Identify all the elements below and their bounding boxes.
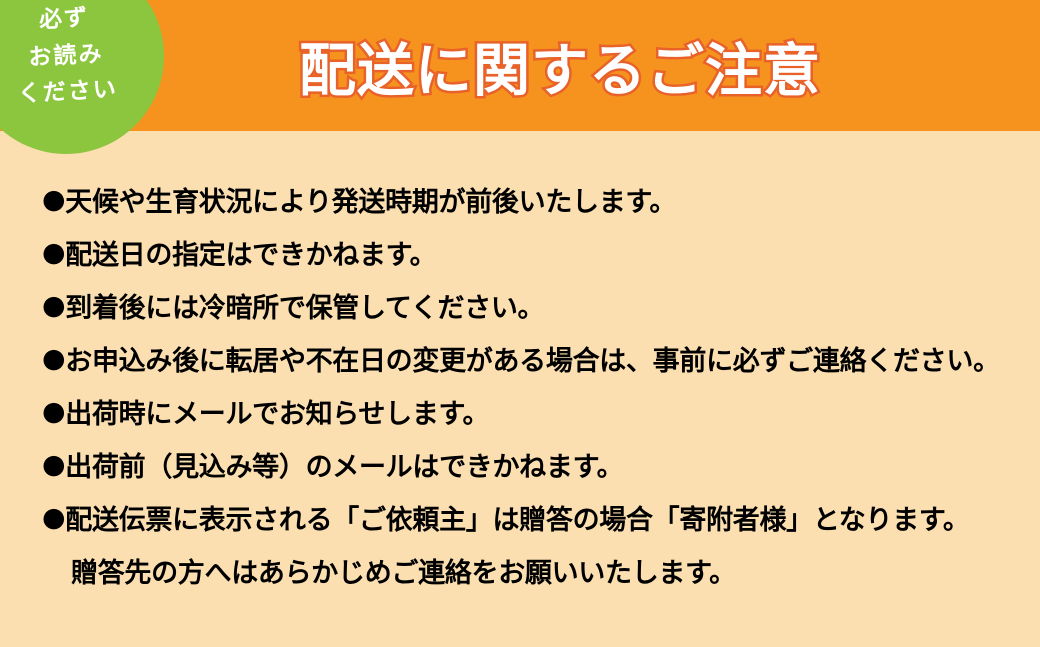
bullet-icon: ● <box>42 398 65 425</box>
badge-line-1: 必ず <box>38 0 90 39</box>
notice-item-text: 出荷時にメールでお知らせします。 <box>65 392 489 431</box>
notice-item-text: 到着後には冷暗所で保管してください。 <box>65 286 544 325</box>
bullet-icon: ● <box>42 345 65 372</box>
bullet-icon: ● <box>42 504 65 531</box>
notice-item: ● 到着後には冷暗所で保管してください。 <box>42 279 1022 332</box>
shipping-notice-card: 配送に関するご注意 必ず お読み ください ● 天候や生育状況により発送時期が前… <box>0 0 1040 647</box>
bullet-icon: ● <box>42 292 65 319</box>
bullet-icon: ● <box>42 451 65 478</box>
notice-item: ● 出荷時にメールでお知らせします。 <box>42 385 1022 438</box>
notice-list: ● 天候や生育状況により発送時期が前後いたします。 ● 配送日の指定はできかねま… <box>42 173 1022 597</box>
notice-item: ● 配送日の指定はできかねます。 <box>42 226 1022 279</box>
notice-item: ● 天候や生育状況により発送時期が前後いたします。 <box>42 173 1022 226</box>
notice-item-text: 配送伝票に表示される「ご依頼主」は贈答の場合「寄附者様」となります。 <box>65 498 969 537</box>
must-read-badge-text: 必ず お読み ください <box>0 0 169 159</box>
notice-item-text: 天候や生育状況により発送時期が前後いたします。 <box>65 180 676 219</box>
notice-item: ● 出荷前（見込み等）のメールはできかねます。 <box>42 438 1022 491</box>
page-title: 配送に関するご注意 <box>160 0 960 131</box>
bullet-icon: ● <box>42 239 65 266</box>
notice-item: ● 配送伝票に表示される「ご依頼主」は贈答の場合「寄附者様」となります。 <box>42 491 1022 544</box>
notice-item-continuation: 贈答先の方へはあらかじめご連絡をお願いいたします。 <box>42 544 1022 597</box>
notice-item-text: 配送日の指定はできかねます。 <box>65 233 436 272</box>
notice-item-text: 贈答先の方へはあらかじめご連絡をお願いいたします。 <box>71 551 736 590</box>
notice-item: ● お申込み後に転居や不在日の変更がある場合は、事前に必ずご連絡ください。 <box>42 332 1022 385</box>
badge-line-2: お読み <box>28 36 105 77</box>
badge-line-3: ください <box>17 72 119 114</box>
notice-item-text: 出荷前（見込み等）のメールはできかねます。 <box>65 445 623 484</box>
bullet-icon: ● <box>42 186 65 213</box>
notice-item-text: お申込み後に転居や不在日の変更がある場合は、事前に必ずご連絡ください。 <box>65 339 1000 378</box>
